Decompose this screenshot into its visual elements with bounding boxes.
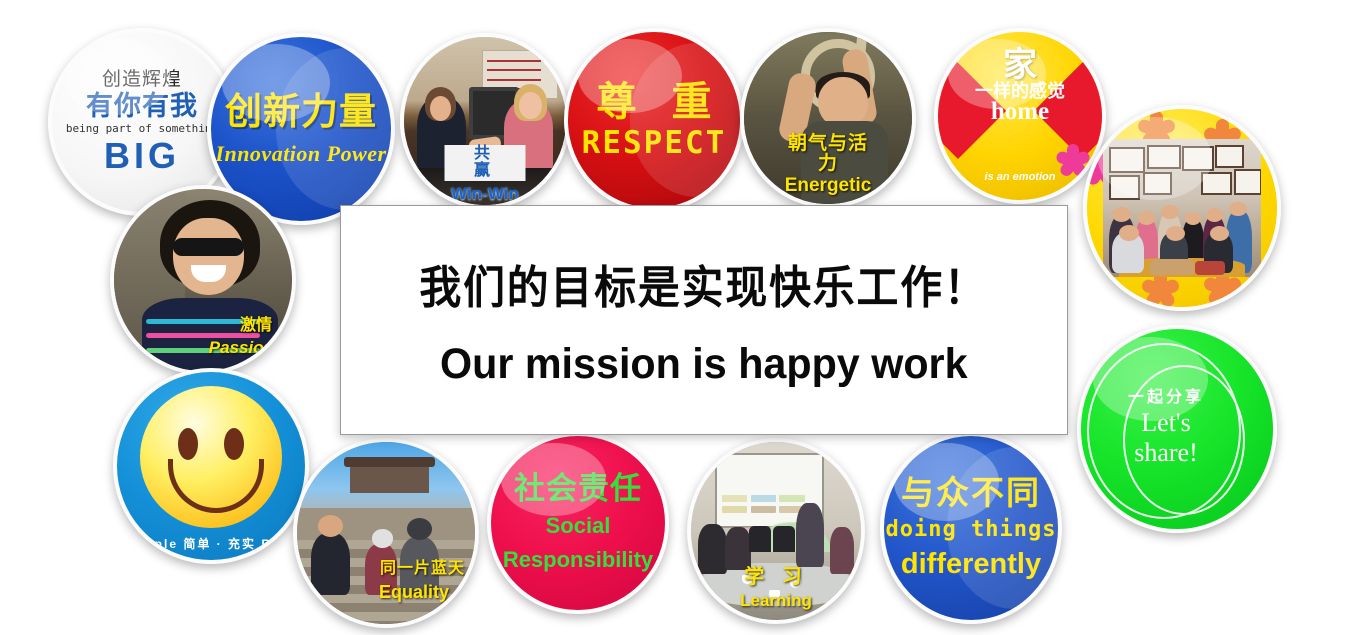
respect-cn: 尊 重	[584, 81, 723, 123]
energetic-en: Energetic	[785, 176, 872, 196]
bubble-passion[interactable]: 激情 Passion	[110, 185, 296, 375]
home-en: home	[938, 99, 1102, 125]
win-win-cn: 共 赢	[445, 145, 526, 181]
bubble-home-is-an-emotion[interactable]: 家 一样的感觉 home is an emotion	[934, 28, 1106, 204]
mission-banner: 我们的目标是实现快乐工作！ Our mission is happy work	[340, 205, 1068, 435]
family-group-photo	[1103, 139, 1261, 277]
smiley-face-icon	[140, 386, 282, 528]
equality-cn: 同一片蓝天	[380, 561, 465, 578]
bubble-equality[interactable]: 同一片蓝天 Equality	[293, 438, 479, 628]
big-line2: 有你有我	[86, 92, 198, 120]
share-en1: Let's	[1128, 408, 1204, 437]
different-cn: 与众不同	[901, 476, 1041, 511]
home-cn1: 家	[938, 48, 1102, 84]
bubble-social-responsibility[interactable]: 社会责任 Social Responsibility	[487, 432, 669, 614]
bubble-energetic[interactable]: 朝气与活力 Energetic	[740, 28, 916, 208]
different-en1: doing things	[886, 518, 1057, 541]
bubble-simple-rich[interactable]: Simple 简单 · 充实 Rich	[113, 368, 309, 564]
bubble-family-photo[interactable]	[1083, 105, 1281, 311]
equality-en: Equality	[379, 583, 449, 602]
mission-cn: 我们的目标是实现快乐工作！	[420, 251, 988, 316]
big-line1: 创造辉煌	[102, 70, 182, 90]
learning-cn: 学 习	[744, 567, 808, 588]
share-cn: 一起分享	[1128, 390, 1204, 407]
passion-cn: 激情	[240, 318, 272, 335]
bubble-doing-things-differently[interactable]: 与众不同 doing things differently	[880, 432, 1062, 624]
different-en2: differently	[901, 549, 1041, 579]
bubble-lets-share[interactable]: 一起分享 Let's share!	[1077, 325, 1277, 533]
innovation-en: Innovation Power	[215, 142, 386, 165]
respect-en: RESPECT	[582, 127, 727, 160]
social-cn: 社会责任	[514, 473, 642, 506]
flower-icon	[1058, 144, 1088, 174]
bubble-learning[interactable]: 学 习 Learning	[687, 438, 865, 624]
bubble-win-win[interactable]: 共 赢 Win-Win	[400, 33, 570, 209]
innovation-cn: 创新力量	[225, 93, 377, 132]
big-line4: BIG	[104, 137, 180, 175]
social-en1: Social	[546, 513, 611, 539]
bubble-respect[interactable]: 尊 重 RESPECT	[564, 28, 744, 212]
win-win-en: Win-Win	[451, 185, 519, 203]
big-line3: being part of something	[66, 123, 218, 135]
mission-en: Our mission is happy work	[440, 340, 968, 389]
simple-rich-caption: Simple 简单 · 充实 Rich	[117, 538, 305, 551]
home-en2: is an emotion	[938, 172, 1102, 184]
social-en2: Responsibility	[503, 547, 653, 573]
share-en2: share!	[1128, 438, 1204, 467]
passion-en: Passion	[209, 339, 274, 357]
energetic-cn: 朝气与活力	[786, 134, 870, 174]
values-bubble-collage: 创造辉煌 有你有我 being part of something BIG 创新…	[0, 0, 1366, 635]
learning-en: Learning	[740, 592, 812, 610]
